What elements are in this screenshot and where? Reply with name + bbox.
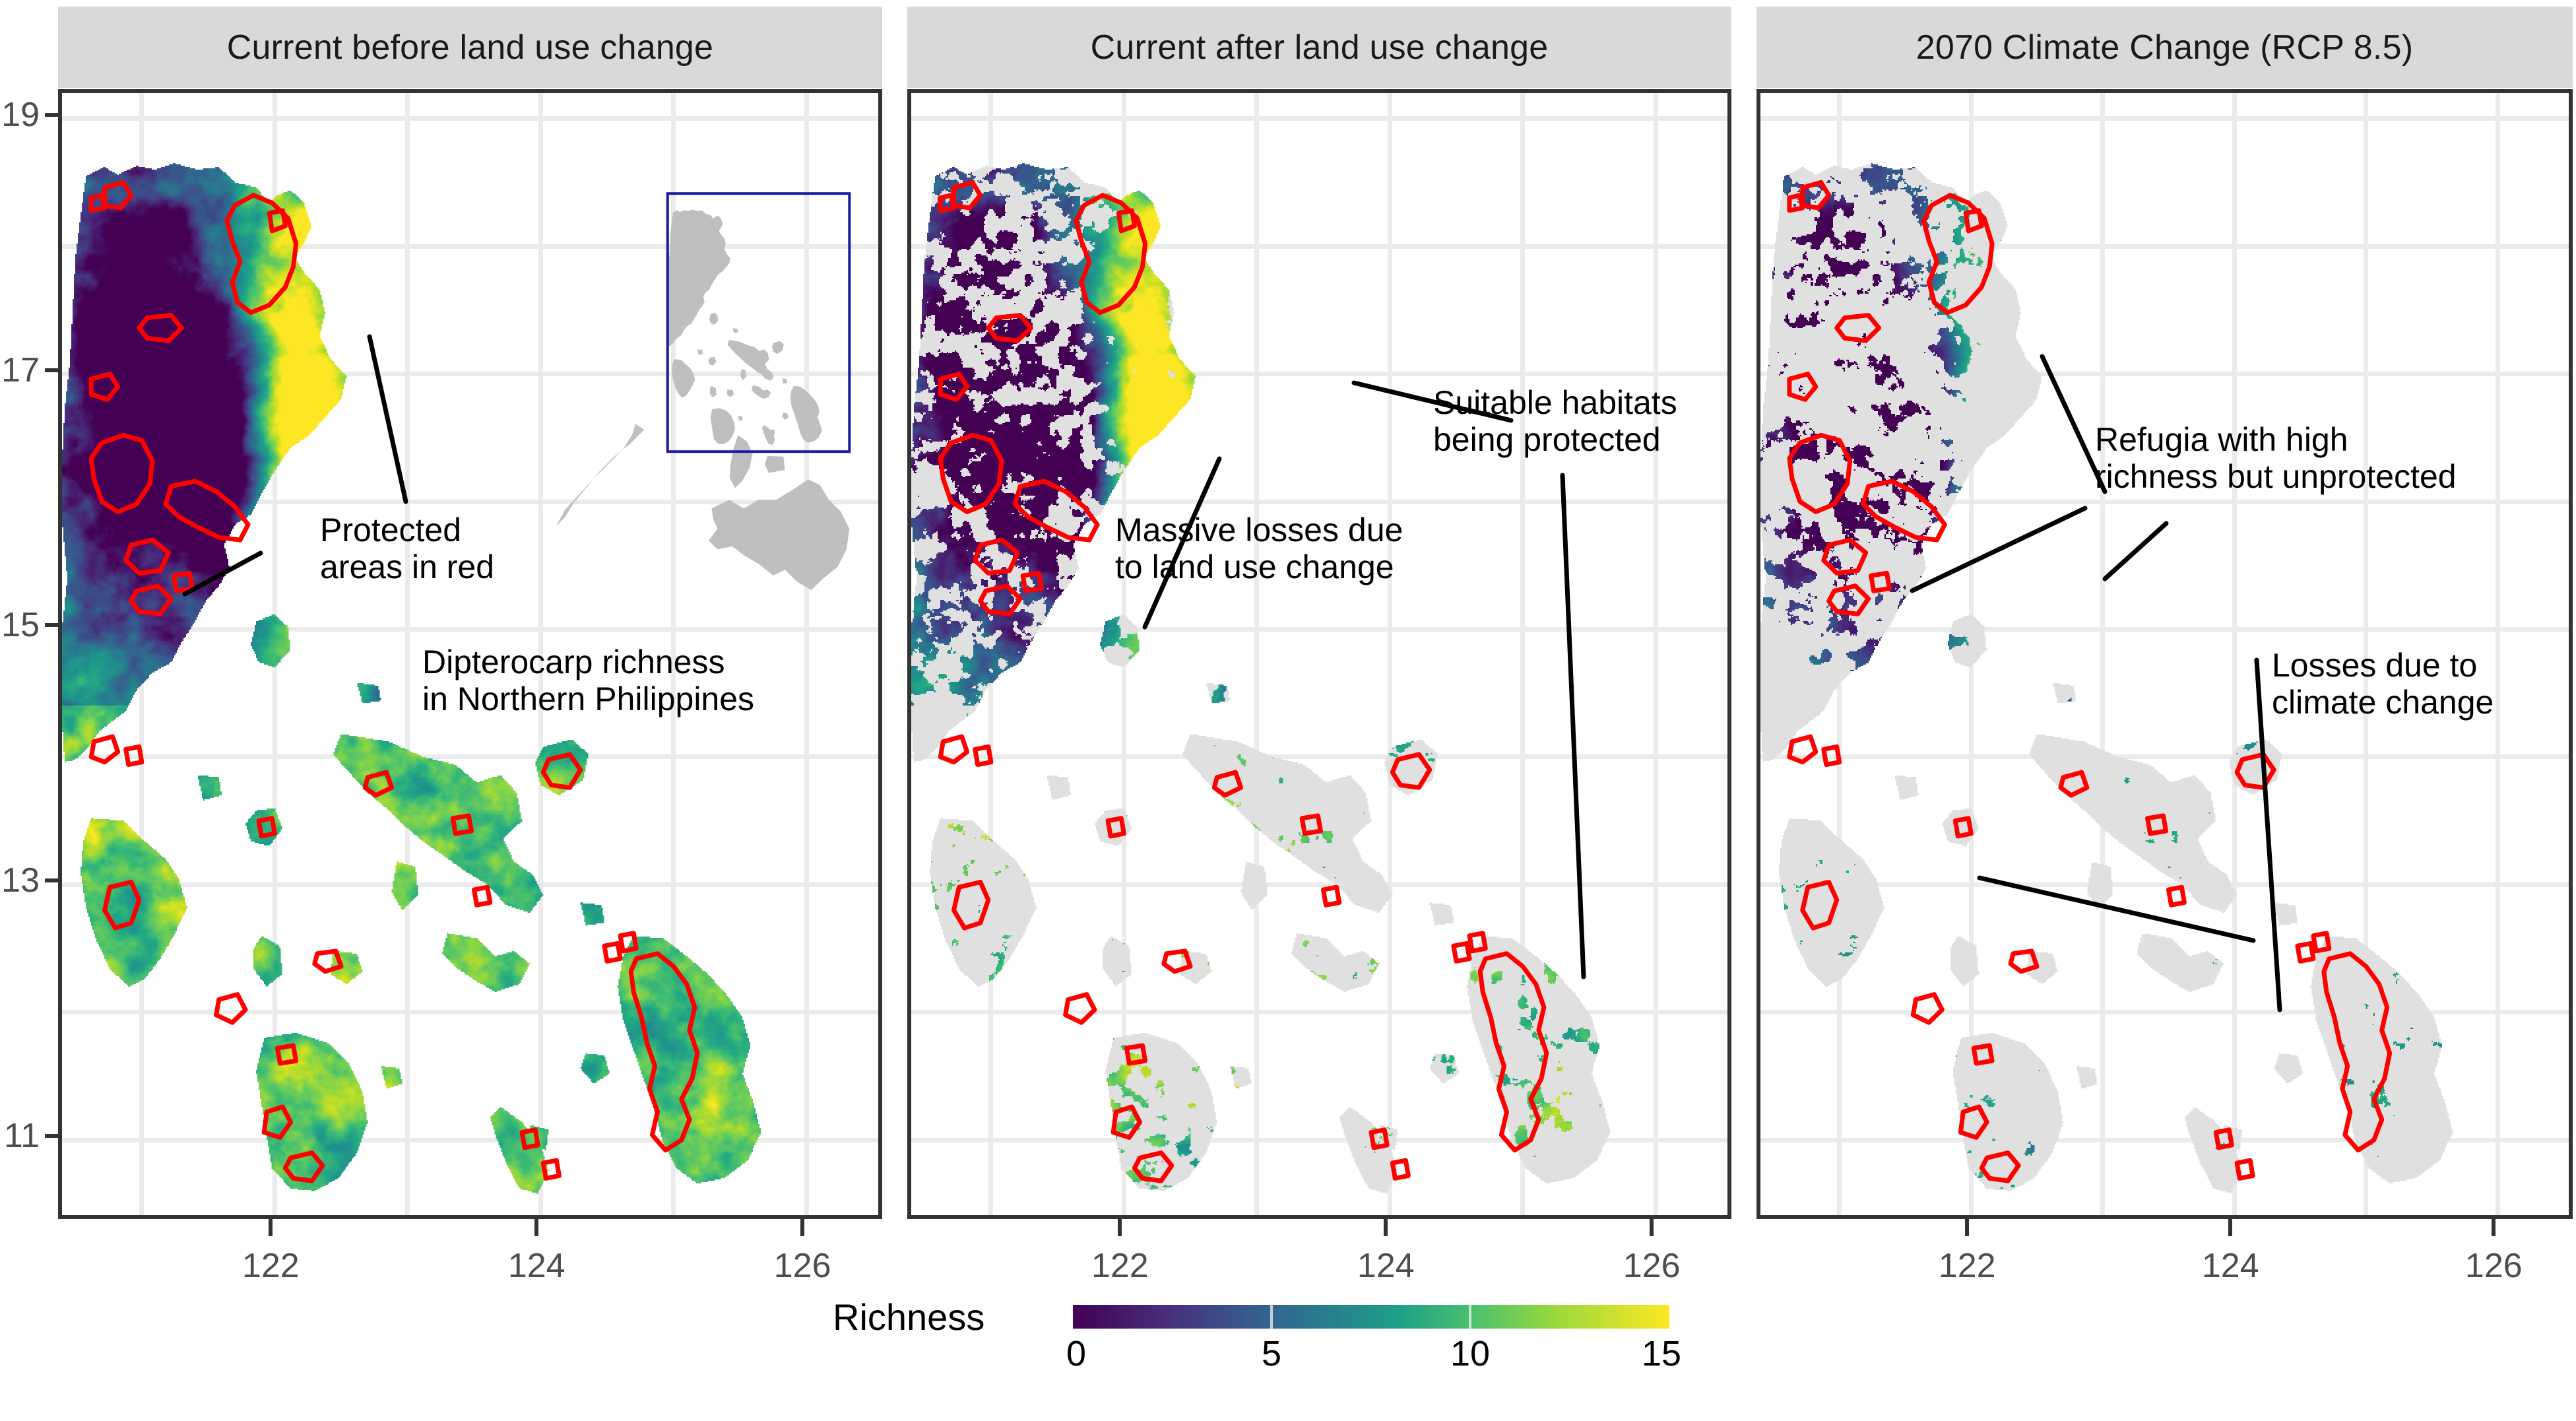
x-axis-label: 122 — [1939, 1246, 1996, 1286]
protected-area-outline — [1392, 754, 1429, 787]
protected-area-outline — [1871, 573, 1890, 591]
protected-area-outline — [954, 882, 988, 929]
protected-area-outline — [954, 182, 981, 208]
inset-landmass — [752, 385, 771, 399]
x-axis-label: 122 — [1091, 1246, 1149, 1286]
inset-landmass — [732, 328, 738, 333]
protected-area-outline — [91, 374, 117, 400]
inset-landmass — [740, 369, 746, 380]
colorbar-label-5: 5 — [1262, 1333, 1281, 1374]
annotation-losses-climate-change: Losses due to climate change — [2272, 647, 2494, 721]
x-axis-tick — [1650, 1219, 1654, 1236]
panel-title-strip-2: Current after land use change — [907, 7, 1731, 88]
x-axis-label: 124 — [1357, 1246, 1415, 1286]
protected-area-outline — [543, 1160, 559, 1178]
panel-title-strip-3: 2070 Climate Change (RCP 8.5) — [1756, 7, 2573, 88]
x-axis-label: 124 — [2202, 1246, 2259, 1286]
x-axis-tick — [1384, 1219, 1388, 1236]
protected-area-outline — [1974, 1045, 1992, 1063]
protected-area-outline — [264, 1107, 290, 1137]
protected-area-outline — [1960, 1107, 1987, 1137]
colorbar-tick-10 — [1469, 1305, 1471, 1329]
protected-area-outline — [1837, 315, 1879, 341]
y-axis-label: 15 — [0, 605, 40, 645]
protected-area-outline — [126, 746, 142, 764]
protected-area-outline — [1371, 1130, 1387, 1148]
protected-area-outline — [1981, 1153, 2018, 1181]
inset-landmass — [710, 386, 717, 398]
protected-area-outline — [1076, 195, 1145, 313]
protected-area-outline — [1863, 481, 1945, 540]
y-axis-label: 11 — [0, 1116, 40, 1156]
protected-area-outline — [1066, 995, 1095, 1023]
protected-area-outline — [1214, 772, 1240, 795]
x-axis-label: 126 — [1623, 1246, 1681, 1286]
colorbar-label-0: 0 — [1066, 1333, 1086, 1374]
protected-area-outline — [174, 573, 192, 591]
inset-landmass — [556, 424, 644, 526]
inset-landmass — [672, 359, 695, 397]
inset-landmass — [782, 413, 789, 420]
inset-landmass — [727, 340, 773, 381]
protected-area-outline — [981, 586, 1020, 614]
inset-landmass — [738, 416, 742, 421]
protected-area-outline — [1966, 211, 1981, 231]
inset-landmass — [727, 389, 734, 397]
protected-area-outline — [1126, 1045, 1145, 1063]
x-axis-tick — [800, 1219, 804, 1236]
protected-area-outline — [1454, 943, 1469, 961]
protected-area-outline — [1023, 573, 1041, 591]
y-axis-tick — [45, 623, 62, 627]
protected-area-outline — [975, 746, 991, 764]
protected-area-outline — [1469, 933, 1485, 951]
inset-landmass — [709, 313, 718, 325]
protected-area-outline — [91, 195, 104, 211]
protected-area-outline — [2237, 1160, 2253, 1178]
protected-area-outline — [1480, 954, 1547, 1150]
protected-area-outline — [940, 737, 967, 762]
protected-area-outline — [604, 943, 620, 961]
protected-area-outline — [1923, 195, 1992, 313]
protected-area-outline — [2169, 887, 2185, 905]
x-axis-tick — [1965, 1219, 1969, 1236]
inset-landmass — [711, 408, 735, 444]
protected-area-outline — [988, 315, 1031, 341]
protected-area-outline — [126, 540, 169, 573]
inset-landmass — [772, 341, 784, 354]
annotation-refugia-unprotected: Refugia with high richness but unprotect… — [2095, 421, 2457, 495]
x-axis-tick — [1118, 1219, 1122, 1236]
protected-area-outline — [139, 315, 181, 341]
protected-area-outline — [631, 954, 697, 1150]
x-axis-label: 122 — [242, 1246, 300, 1286]
protected-area-outline — [940, 435, 1002, 512]
colorbar-label-15: 15 — [1642, 1333, 1681, 1374]
protected-area-outline — [1829, 586, 1869, 614]
protected-area-outline — [91, 737, 117, 762]
protected-area-outline — [1118, 211, 1134, 231]
annotation-dipterocarp-richness: Dipterocarp richness in Northern Philipp… — [422, 644, 754, 717]
inset-landmass — [730, 435, 753, 488]
protected-area-outline — [1789, 435, 1850, 512]
protected-area-outline — [227, 195, 296, 313]
protected-area-outline — [2011, 951, 2037, 972]
x-axis-tick — [534, 1219, 538, 1236]
protected-area-outline — [1955, 818, 1971, 836]
protected-area-outline — [453, 816, 471, 834]
panel-title-1: Current before land use change — [227, 28, 713, 67]
x-axis-label: 126 — [2465, 1246, 2523, 1286]
y-axis-tick — [45, 113, 62, 117]
colorbar-label-10: 10 — [1450, 1333, 1490, 1374]
protected-areas-overlay — [911, 93, 1727, 1215]
protected-area-outline — [522, 1130, 538, 1148]
protected-area-outline — [2313, 933, 2329, 951]
protected-area-outline — [1824, 540, 1866, 573]
protected-area-outline — [1913, 995, 1942, 1023]
legend-title: Richness — [833, 1296, 984, 1338]
protected-area-outline — [216, 995, 245, 1023]
philippines-locator-inset — [550, 129, 867, 631]
map-panel-current-after — [907, 89, 1731, 1219]
protected-area-outline — [1803, 182, 1829, 208]
protected-area-outline — [131, 586, 171, 614]
y-axis-tick — [45, 368, 62, 372]
protected-area-outline — [269, 211, 285, 231]
x-axis-tick — [269, 1219, 273, 1236]
protected-area-outline — [474, 887, 490, 905]
y-axis-label: 19 — [0, 95, 40, 135]
protected-area-outline — [277, 1045, 296, 1063]
protected-area-outline — [1324, 887, 1339, 905]
protected-area-outline — [365, 772, 391, 795]
panel-title-strip-1: Current before land use change — [58, 7, 882, 88]
protected-area-outline — [1302, 816, 1320, 834]
annotation-protected-areas-in-red: Protected areas in red — [320, 512, 494, 585]
y-axis-tick — [45, 878, 62, 882]
protected-area-outline — [620, 933, 636, 951]
protected-area-outline — [2216, 1130, 2232, 1148]
x-axis-tick — [2228, 1219, 2232, 1236]
protected-area-outline — [285, 1153, 322, 1181]
inset-landmass — [697, 349, 703, 355]
x-axis-label: 126 — [774, 1246, 831, 1286]
x-axis-tick — [2492, 1219, 2495, 1236]
protected-area-outline — [105, 182, 131, 208]
inset-landmass — [708, 357, 717, 366]
protected-area-outline — [166, 481, 248, 540]
protected-area-outline — [1164, 951, 1190, 972]
protected-area-outline — [2061, 772, 2087, 795]
protected-area-outline — [259, 818, 274, 836]
panel-title-2: Current after land use change — [1091, 28, 1549, 67]
protected-area-outline — [1015, 481, 1097, 540]
protected-area-outline — [91, 435, 152, 512]
protected-area-outline — [1789, 374, 1816, 400]
protected-area-outline — [1789, 195, 1803, 211]
inset-landmass — [668, 210, 730, 347]
protected-area-outline — [975, 540, 1018, 573]
protected-area-outline — [1803, 882, 1837, 929]
y-axis-tick — [45, 1134, 62, 1138]
protected-area-outline — [2148, 816, 2166, 834]
y-axis-label: 17 — [0, 350, 40, 390]
protected-area-outline — [2324, 954, 2390, 1150]
protected-area-outline — [1824, 746, 1840, 764]
inset-landmass — [762, 425, 775, 445]
protected-area-outline — [940, 195, 953, 211]
colorbar-tick-5 — [1270, 1305, 1273, 1329]
protected-area-outline — [1113, 1107, 1140, 1137]
protected-area-outline — [1134, 1153, 1171, 1181]
protected-area-outline — [543, 754, 580, 787]
inset-landmass — [790, 386, 822, 443]
protected-area-outline — [1108, 818, 1124, 836]
annotation-massive-losses: Massive losses due to land use change — [1115, 512, 1403, 585]
inset-landmass — [782, 378, 787, 383]
inset-landmass — [709, 479, 849, 590]
protected-area-outline — [315, 951, 341, 972]
inset-landmass — [765, 456, 785, 473]
protected-area-outline — [1392, 1160, 1408, 1178]
protected-area-outline — [2237, 754, 2274, 787]
y-axis-label: 13 — [0, 861, 40, 900]
inset-landmass — [756, 356, 759, 361]
annotation-suitable-habitats: Suitable habitats being protected — [1433, 384, 1677, 458]
x-axis-label: 124 — [508, 1246, 565, 1286]
richness-colorbar — [1073, 1305, 1669, 1329]
protected-area-outline — [1789, 737, 1816, 762]
protected-area-outline — [105, 882, 139, 929]
protected-area-outline — [940, 374, 967, 400]
protected-area-outline — [2298, 943, 2313, 961]
panel-title-3: 2070 Climate Change (RCP 8.5) — [1916, 28, 2413, 67]
